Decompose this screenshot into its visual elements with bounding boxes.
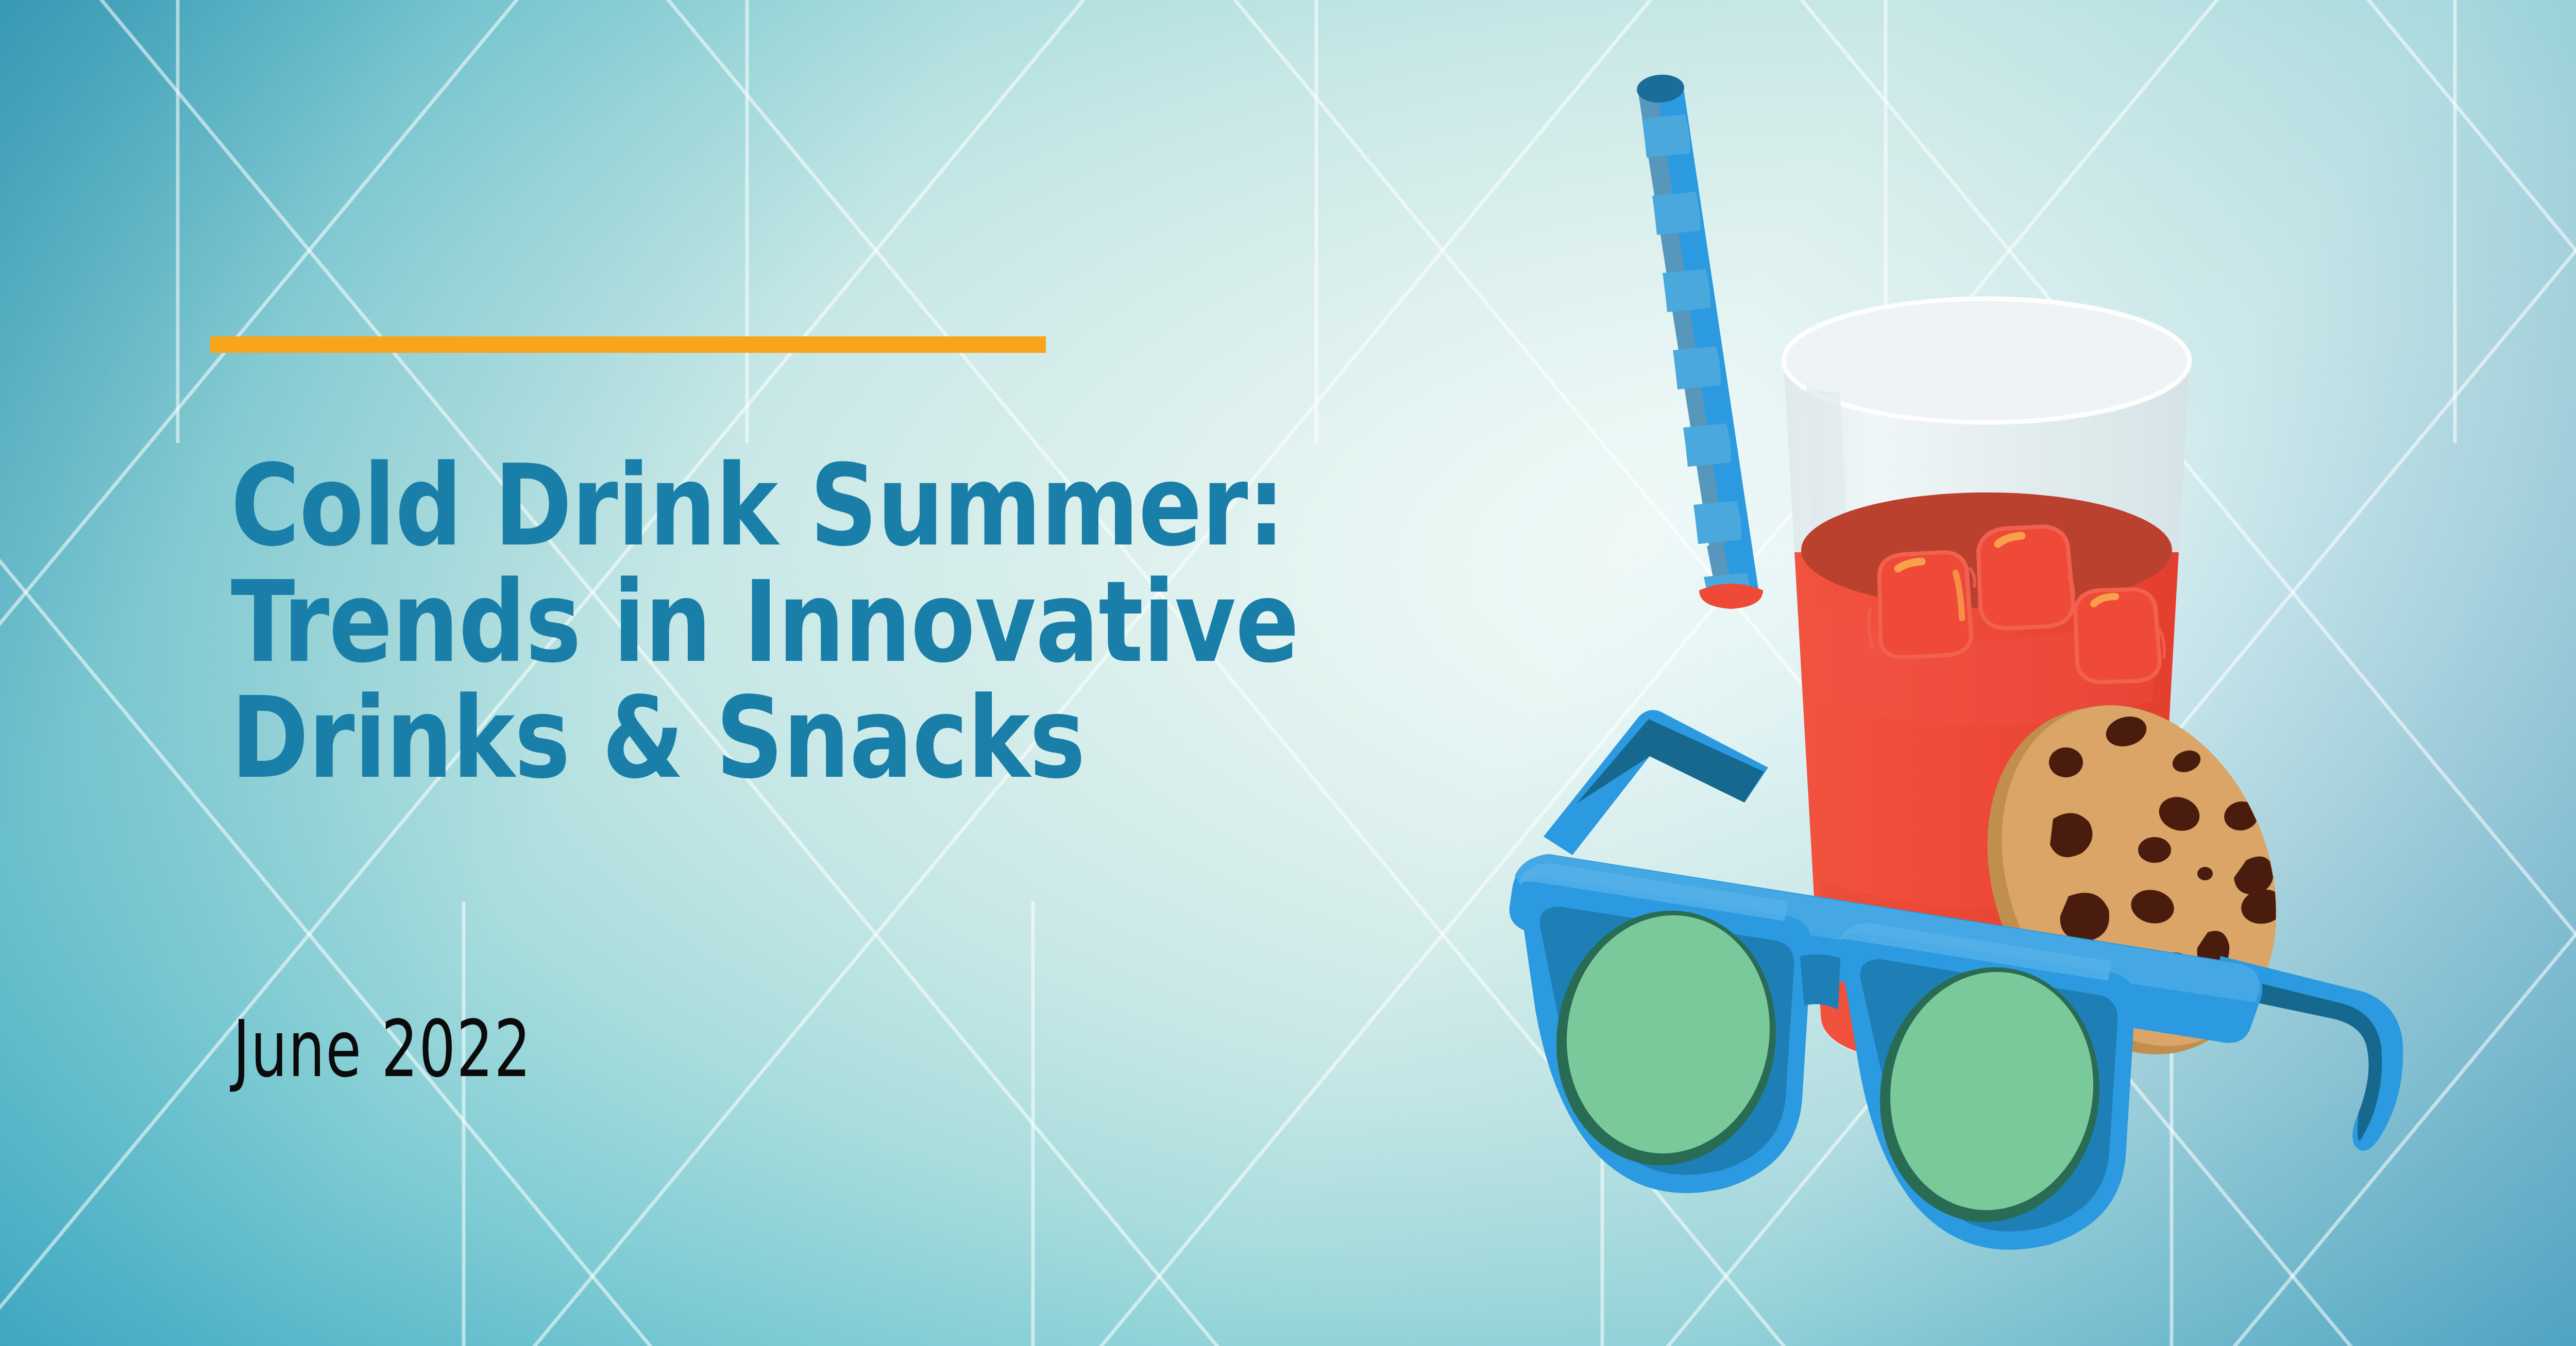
date-subtitle: June 2022 bbox=[233, 1003, 532, 1095]
accent-rule bbox=[210, 336, 1046, 353]
iced-drink-illustration bbox=[1458, 31, 2427, 1267]
title-slide: Cold Drink Summer: Trends in Innovative … bbox=[0, 0, 2576, 1346]
page-title: Cold Drink Summer: Trends in Innovative … bbox=[231, 448, 1622, 797]
drinking-straw-icon bbox=[1636, 73, 1759, 600]
straw-in-liquid bbox=[1699, 542, 1763, 609]
title-line-1: Cold Drink Summer: bbox=[231, 448, 1524, 565]
title-line-2: Trends in Innovative bbox=[231, 565, 1524, 681]
title-line-3: Drinks & Snacks bbox=[231, 680, 1524, 797]
